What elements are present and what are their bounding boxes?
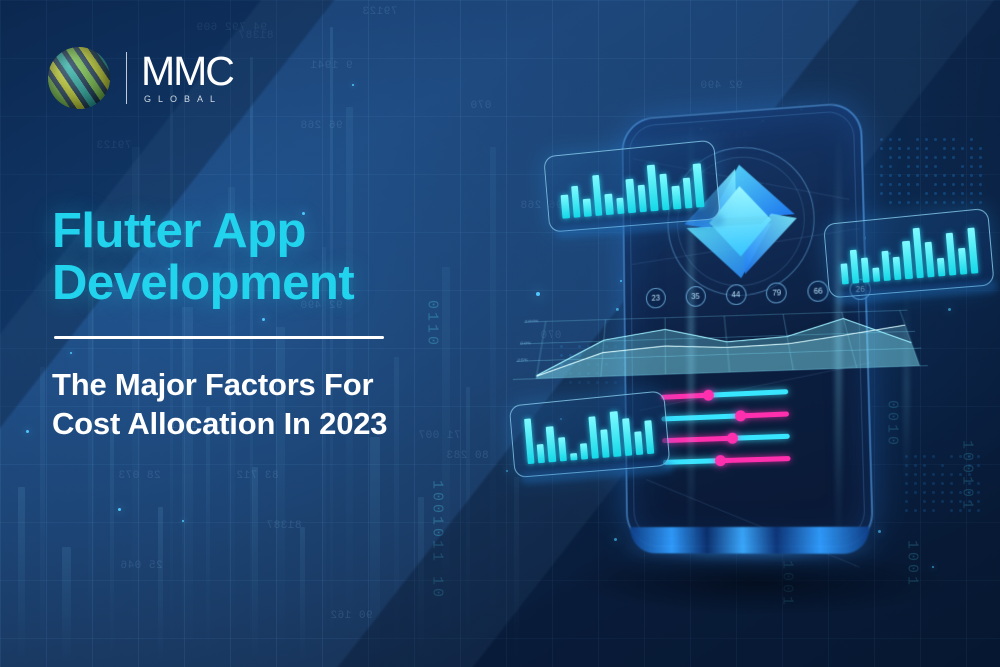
slider-group (661, 389, 792, 482)
chart-bar (912, 228, 923, 278)
logo-divider (126, 52, 127, 104)
chart-bar (637, 185, 647, 213)
brand-tagline: GLOBAL (141, 94, 233, 104)
background-ghost-number: 070 (470, 100, 491, 112)
slider-track-filled (661, 393, 709, 400)
background-ghost-number: 81387 (266, 520, 302, 532)
bar-card-bottom-left[interactable] (509, 390, 671, 478)
light-streak-2 (836, 120, 841, 560)
background-ghost-number: 79123 (362, 6, 398, 18)
chart-y-tick-label: 100% (524, 319, 539, 323)
slider-handle[interactable] (703, 389, 714, 400)
light-streak-3 (905, 270, 908, 500)
chart-bar (626, 178, 636, 213)
chart-bar (644, 420, 654, 454)
subtitle-line-1: The Major Factors For (52, 367, 373, 402)
chart-bar (537, 444, 545, 463)
chart-gridline (524, 310, 907, 322)
area-chart-svg (511, 307, 931, 388)
background-ghost-number: 28 073 (118, 470, 161, 482)
chart-bar (634, 431, 643, 455)
grid-line-vertical (966, 0, 967, 667)
page-title: Flutter App Development (52, 206, 492, 310)
background-light-bar (370, 437, 380, 667)
chart-bar (588, 417, 599, 459)
slider-3[interactable] (662, 434, 790, 443)
sparkle-dot (932, 566, 934, 568)
grid-line-vertical (506, 0, 507, 667)
grid-line-vertical (0, 0, 1, 667)
sparkle-dot (506, 470, 508, 472)
title-line-1: Flutter App (52, 204, 306, 258)
chart-bar (937, 258, 946, 276)
chart-bar (841, 264, 849, 285)
background-light-bar (40, 367, 45, 667)
background-ghost-number: 96 268 (300, 120, 343, 132)
chart-bar (601, 429, 610, 458)
chart-bar (622, 418, 632, 456)
sparkle-dot (948, 308, 951, 311)
chart-bar (570, 453, 578, 461)
chart-bar (893, 257, 902, 280)
brand-logo[interactable]: MMC GLOBAL (48, 43, 233, 113)
slider-handle[interactable] (735, 410, 746, 421)
light-streak-1 (689, 100, 693, 570)
grid-line-horizontal (0, 0, 1000, 1)
chart-bar (861, 258, 870, 283)
chart-bar (616, 198, 625, 214)
background-binary-column: 1001011 10 (425, 480, 448, 600)
background-light-bar (252, 467, 258, 667)
mmc-globe-icon (48, 47, 110, 109)
chart-bar (924, 241, 934, 277)
chart-bar (873, 268, 881, 282)
slider-track-filled (662, 436, 731, 443)
page-subtitle: The Major Factors For Cost Allocation In… (52, 365, 492, 443)
sparkle-dot (26, 430, 29, 433)
chart-bar (546, 426, 556, 463)
chart-gridline (536, 321, 546, 378)
chart-bar (561, 195, 570, 219)
background-ghost-number: 94 792 609 (196, 22, 267, 34)
bar-card-top-left[interactable] (543, 139, 721, 232)
subtitle-line-2: Cost Allocation In 2023 (52, 406, 387, 441)
bar-card-top-right[interactable] (823, 208, 995, 299)
background-light-bar (110, 427, 114, 667)
sparkle-dot (182, 520, 184, 522)
background-light-bar (18, 487, 25, 667)
chart-bar (524, 419, 535, 465)
poster-canvas: 813879 19417912396 26807092 49045 16194 … (0, 0, 1000, 667)
grid-line-horizontal (0, 638, 1000, 639)
title-divider (54, 336, 384, 339)
chart-bar (693, 164, 704, 208)
background-ghost-number: 81387 (238, 30, 274, 42)
background-binary-column: 100101 (955, 440, 978, 512)
sparkle-dot (536, 292, 540, 296)
slider-handle[interactable] (726, 433, 737, 444)
chart-bar (672, 186, 681, 210)
chart-bar (571, 186, 581, 218)
chart-bar (850, 249, 860, 283)
headline-block: Flutter App Development The Major Factor… (52, 206, 492, 443)
slider-track-remainder (719, 456, 790, 463)
background-light-bar (514, 477, 519, 667)
chart-bar (558, 437, 567, 461)
chart-bar (592, 175, 603, 216)
chart-bar (902, 240, 912, 279)
chart-bar (605, 194, 614, 215)
chart-bar (882, 251, 891, 281)
slider-handle[interactable] (714, 455, 725, 466)
slider-track-filled (661, 413, 739, 421)
background-light-bar (158, 507, 163, 667)
background-light-bar (418, 497, 424, 667)
slider-4[interactable] (663, 456, 791, 465)
chart-bar (967, 228, 978, 274)
screen-area-chart: 100%50%25% (511, 307, 931, 388)
background-light-bar (62, 547, 71, 667)
brand-name: MMC (141, 52, 233, 91)
chart-bar (580, 444, 588, 460)
chart-bar (659, 173, 670, 210)
sparkle-dot (118, 508, 121, 511)
chart-bar (946, 233, 957, 276)
background-ghost-number: 83 712 (236, 470, 279, 482)
logo-wordmark: MMC GLOBAL (141, 52, 233, 105)
grid-line-vertical (46, 0, 47, 667)
chart-bar (583, 199, 592, 217)
background-light-bar (300, 527, 305, 667)
background-ghost-number: 80 283 (446, 450, 489, 462)
background-ghost-number: 92 490 (700, 80, 743, 92)
background-ghost-number: 25 046 (120, 560, 163, 572)
slider-track-remainder (731, 434, 789, 441)
chart-bar (958, 248, 967, 275)
chart-bar (610, 411, 621, 456)
slider-2[interactable] (661, 411, 789, 421)
chart-bar (647, 165, 658, 212)
slider-track-remainder (740, 411, 789, 418)
background-light-bar (206, 407, 210, 667)
title-line-2: Development (52, 256, 354, 310)
background-ghost-number: 90 162 (330, 610, 373, 622)
background-ghost-number: 9 1941 (310, 60, 353, 72)
sparkle-dot (352, 84, 354, 86)
background-ghost-number: 79123 (96, 140, 132, 152)
